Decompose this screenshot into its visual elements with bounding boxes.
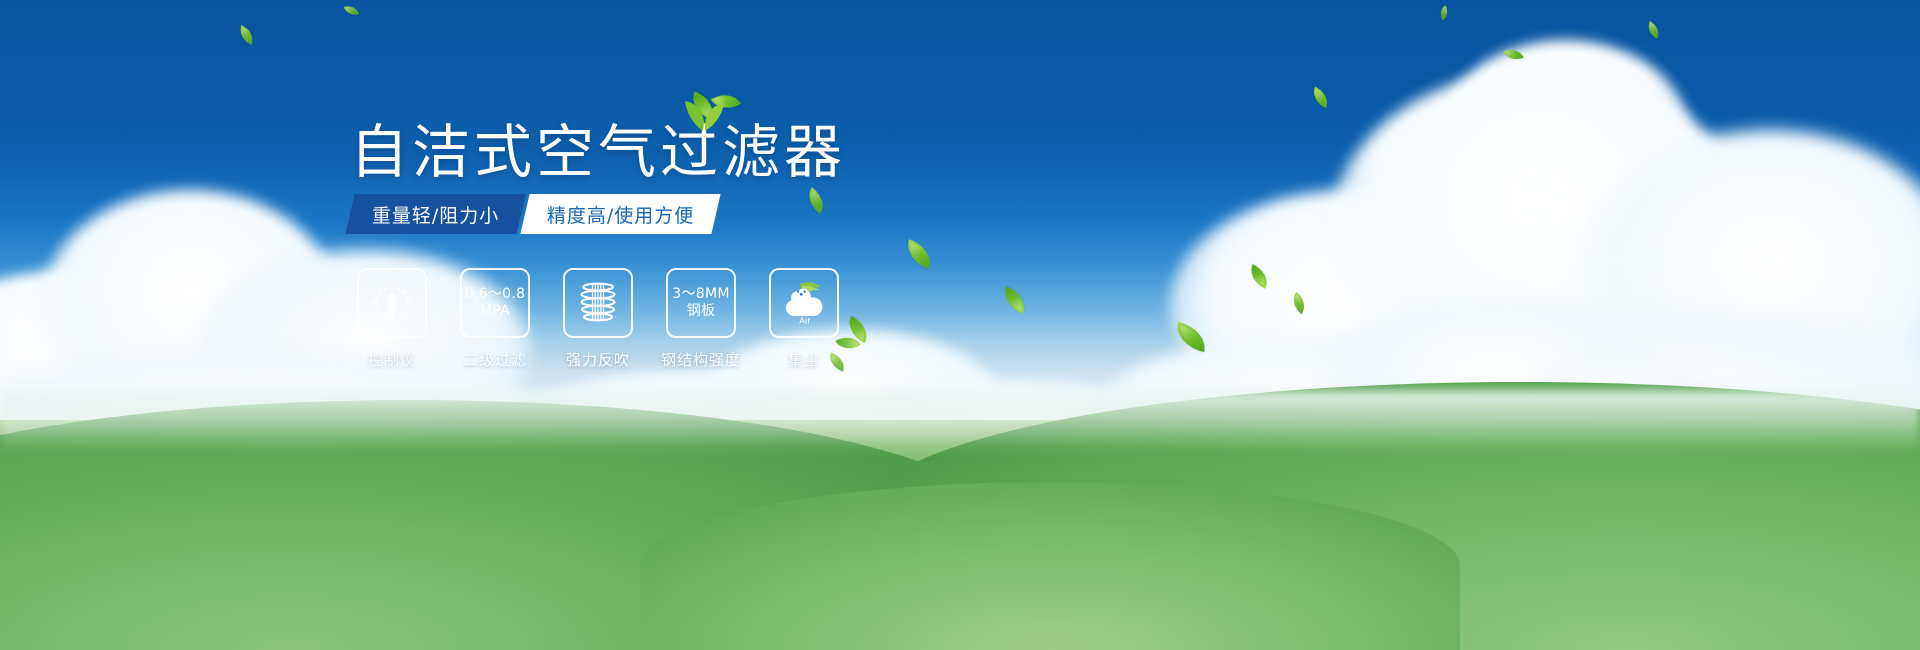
steel-value-line2: 钢板 [687, 303, 716, 320]
feature-tag-group: 重量轻/阻力小 精度高/使用方便 [350, 194, 717, 234]
feature-label: 强力反吹 [566, 349, 630, 370]
feature-item-dust-collection: Air 集尘 [764, 268, 844, 370]
tag-label: 精度高/使用方便 [547, 201, 694, 228]
svg-text:NO: NO [370, 301, 378, 307]
feature-item-two-stage-filtration: 0.6～0.8 MPA 二级过滤 [455, 268, 535, 370]
feature-label: 控制仪 [368, 349, 416, 370]
feature-label: 二级过滤 [463, 349, 527, 370]
feature-icon-box [563, 268, 633, 338]
feature-icon-row: NO OFF 控制仪 0.6～0.8 MPA 二级过滤 [352, 268, 844, 370]
pressure-value-line1: 0.6～0.8 [465, 286, 526, 303]
filter-stack-icon [574, 278, 622, 328]
svg-text:OFF: OFF [399, 315, 409, 321]
feature-label: 钢结构强度 [661, 349, 741, 370]
feature-label: 集尘 [788, 349, 820, 370]
feature-icon-box: 0.6～0.8 MPA [460, 268, 530, 338]
feature-icon-box: NO OFF [357, 268, 427, 338]
page-title: 自洁式空气过滤器 [350, 120, 846, 184]
pressure-value-line2: MPA [480, 303, 510, 320]
air-label: Air [799, 316, 811, 326]
leaf-decoration-icon [683, 98, 725, 132]
feature-item-strong-backflush: 强力反吹 [558, 268, 638, 370]
tag-label: 重量轻/阻力小 [372, 201, 499, 228]
product-banner: 自洁式空气过滤器 重量轻/阻力小 精度高/使用方便 [0, 0, 1920, 650]
banner-content: 自洁式空气过滤器 重量轻/阻力小 精度高/使用方便 [0, 0, 1920, 650]
feature-icon-box: Air [769, 268, 839, 338]
title-block: 自洁式空气过滤器 [350, 120, 846, 184]
cloud-air-icon: Air [778, 278, 830, 328]
tag-lightweight-lowresistance: 重量轻/阻力小 [345, 194, 526, 234]
feature-icon-box: 3～8MM 钢板 [666, 268, 736, 338]
tag-precision-easyuse: 精度高/使用方便 [521, 194, 722, 234]
feature-item-steel-strength: 3～8MM 钢板 钢结构强度 [661, 268, 741, 370]
dial-gauge-icon: NO OFF [367, 278, 417, 328]
feature-item-controller: NO OFF 控制仪 [352, 268, 432, 370]
steel-value-line1: 3～8MM [672, 286, 729, 303]
